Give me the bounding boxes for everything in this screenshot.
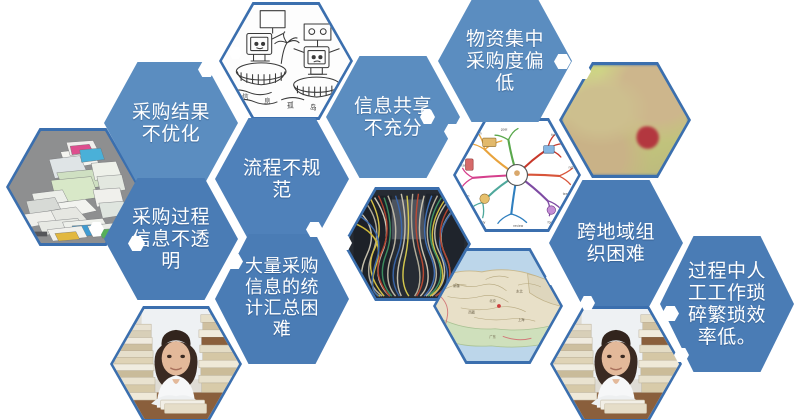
overworked-woman-right-image bbox=[553, 309, 679, 419]
hex-label-information-sharing: 信息共享 不充分 bbox=[330, 95, 456, 139]
overworked-woman-left-image bbox=[113, 309, 239, 419]
hex-label-manual-work-inefficient: 过程中人 工工作琐 碎繁琐效 率低。 bbox=[664, 260, 790, 348]
hex-photo-information-islands-cartoon[interactable]: 信息 孤岛 bbox=[219, 2, 353, 120]
hex-text-information-sharing[interactable]: 信息共享 不充分 bbox=[326, 56, 460, 178]
svg-text:西藏: 西藏 bbox=[468, 310, 475, 315]
svg-text:信: 信 bbox=[242, 92, 249, 101]
hex-label-procurement-result: 采购结果 不优化 bbox=[108, 101, 234, 145]
svg-text:study: study bbox=[477, 220, 486, 224]
blurred-apple-image bbox=[562, 65, 688, 175]
geographic-map-image: 北京 新疆 西藏 东北 上海 广东 bbox=[436, 251, 560, 361]
svg-text:息: 息 bbox=[264, 97, 271, 106]
svg-text:team: team bbox=[563, 192, 571, 196]
hex-label-process-not-transparent: 采购过程 信息不透 明 bbox=[108, 206, 234, 272]
svg-text:note: note bbox=[568, 165, 575, 169]
mind-map-image: ideaplangoal timetasknote teamfocusrevie… bbox=[456, 121, 578, 229]
hex-text-statistics-difficult[interactable]: 大量采购 信息的统 计汇总困 难 bbox=[215, 234, 349, 364]
hex-text-cross-region-organization[interactable]: 跨地域组 织困难 bbox=[549, 180, 683, 306]
svg-text:goal: goal bbox=[501, 127, 508, 131]
hex-label-process-not-standard: 流程不规 范 bbox=[219, 157, 345, 201]
svg-text:plan: plan bbox=[475, 131, 482, 135]
svg-text:focus: focus bbox=[548, 220, 557, 224]
hex-text-process-not-standard[interactable]: 流程不规 范 bbox=[215, 118, 349, 240]
information-islands-cartoon-image: 信息 孤岛 bbox=[222, 5, 350, 117]
svg-text:review: review bbox=[513, 224, 524, 228]
connector-node-5 bbox=[108, 312, 125, 327]
hex-photo-blurred-apple[interactable] bbox=[559, 62, 691, 178]
hex-label-statistics-difficult: 大量采购 信息的统 计汇总困 难 bbox=[221, 257, 343, 341]
svg-text:上海: 上海 bbox=[518, 317, 525, 322]
hex-photo-overworked-woman-left[interactable] bbox=[110, 306, 242, 420]
hex-photo-overworked-woman-right[interactable] bbox=[550, 306, 682, 420]
svg-text:idea: idea bbox=[464, 141, 471, 145]
svg-text:task: task bbox=[567, 145, 574, 149]
hexagon-infographic: 信息 孤岛 bbox=[0, 0, 794, 420]
hex-text-centralized-procurement[interactable]: 物资集中 采购度偏 低 bbox=[438, 0, 572, 122]
svg-text:广东: 广东 bbox=[489, 334, 496, 339]
hex-label-cross-region-organization: 跨地域组 织困难 bbox=[553, 221, 679, 265]
hex-label-centralized-procurement: 物资集中 采购度偏 低 bbox=[442, 28, 568, 94]
svg-text:孤: 孤 bbox=[287, 101, 294, 110]
svg-text:新疆: 新疆 bbox=[453, 283, 460, 288]
hex-photo-mind-map[interactable]: ideaplangoal timetasknote teamfocusrevie… bbox=[453, 118, 581, 232]
svg-text:岛: 岛 bbox=[310, 102, 317, 111]
svg-text:learn: learn bbox=[462, 194, 470, 198]
svg-text:东北: 东北 bbox=[516, 289, 523, 294]
svg-text:time: time bbox=[551, 133, 558, 137]
svg-text:北京: 北京 bbox=[489, 298, 496, 303]
